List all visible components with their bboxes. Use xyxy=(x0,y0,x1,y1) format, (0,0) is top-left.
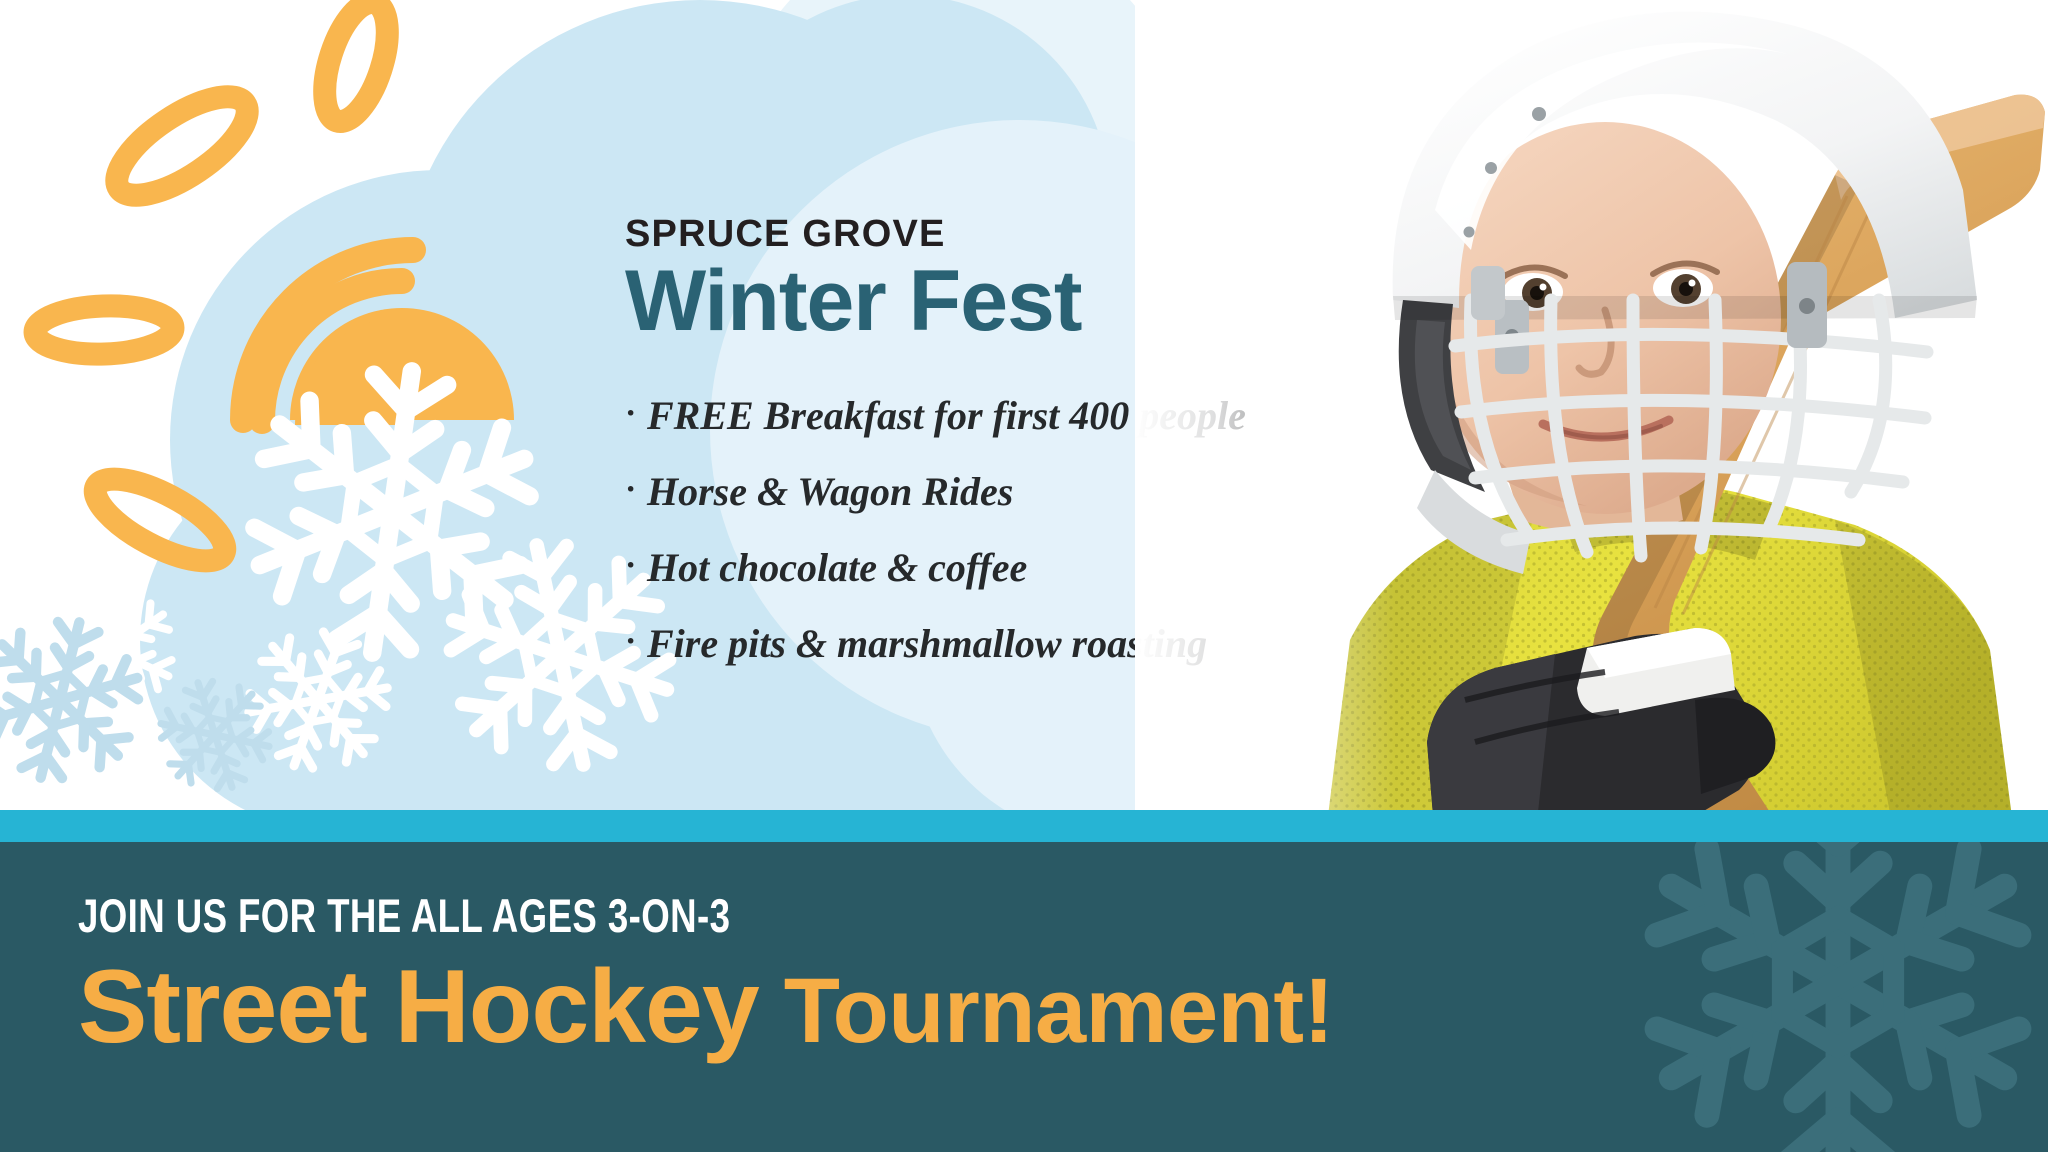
winter-fest-banner: SPRUCE GROVE Winter Fest · FREE Breakfas… xyxy=(0,0,2048,1152)
bullet-marker-icon: · xyxy=(625,386,647,441)
bottom-text-block: JOIN US FOR THE ALL AGES 3-ON-3 Street H… xyxy=(78,892,1334,1059)
kicker-text: JOIN US FOR THE ALL AGES 3-ON-3 xyxy=(78,892,1057,939)
hockey-player-photo xyxy=(1135,0,2048,840)
photo-left-fade xyxy=(1135,0,1395,840)
bullet-marker-icon: · xyxy=(625,614,647,669)
cyan-accent-bar xyxy=(0,810,2048,842)
bullet-marker-icon: · xyxy=(625,462,647,517)
bullet-marker-icon: · xyxy=(625,538,647,593)
snowflake-icon-large xyxy=(1608,842,2048,1152)
headline: Street Hockey Tournament! xyxy=(78,955,1334,1059)
headline-tournament: Tournament! xyxy=(759,960,1334,1062)
headline-street-hockey: Street Hockey xyxy=(78,949,759,1065)
